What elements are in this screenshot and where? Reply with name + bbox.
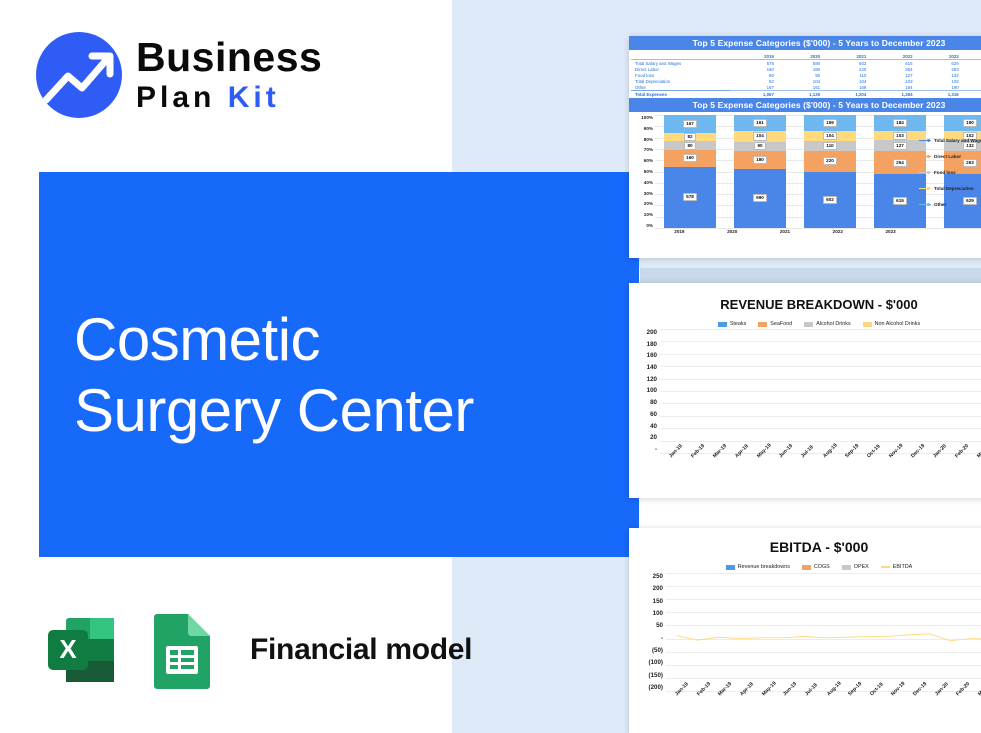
y-tick: 40% bbox=[631, 180, 653, 185]
legend-item: Steaks bbox=[718, 321, 746, 327]
y-tick: 70% bbox=[631, 147, 653, 152]
legend-label: Total Salary and Wages bbox=[934, 138, 981, 143]
bar-segment: 160 bbox=[664, 150, 717, 167]
y-tick: 80 bbox=[631, 399, 657, 406]
data-label: 602 bbox=[823, 196, 837, 204]
legend-label: Non Alcohol Drinks bbox=[875, 321, 921, 327]
data-label: 180 bbox=[753, 156, 767, 164]
bar-segment: 169 bbox=[804, 115, 857, 131]
file-format-label: Financial model bbox=[250, 633, 472, 667]
bar-segment: 190 bbox=[944, 115, 981, 131]
y-tick: - bbox=[631, 446, 657, 453]
brand-kit-text: Kit bbox=[228, 81, 280, 114]
data-label: 220 bbox=[823, 157, 837, 165]
page-title: Cosmetic Surgery Center bbox=[74, 305, 634, 447]
legend-item: Food loss bbox=[919, 170, 981, 175]
legend-item: Revenue breakdowns bbox=[726, 564, 790, 570]
bar-segment: 167 bbox=[664, 115, 717, 133]
legend-label: Direct Labor bbox=[934, 154, 961, 159]
data-label: 104 bbox=[753, 132, 767, 140]
stacked-bar-column: 16110490180590 bbox=[734, 115, 787, 228]
y-tick: - bbox=[631, 635, 663, 642]
expense-chart-y-axis: 100%90%80%70%60%50%40%30%20%10%0% bbox=[631, 115, 655, 238]
y-tick: 200 bbox=[631, 329, 657, 336]
y-tick: 120 bbox=[631, 376, 657, 383]
ebitda-line bbox=[666, 573, 981, 691]
bar-segment: 180 bbox=[734, 151, 787, 169]
legend-swatch bbox=[842, 565, 851, 570]
data-label: 103 bbox=[893, 132, 907, 140]
ebitda-chart-bars bbox=[666, 573, 981, 691]
revenue-chart-x-axis: Jan-19Feb-19Mar-19Apr-19May-19Jun-19Jul-… bbox=[657, 453, 981, 487]
y-tick: 90% bbox=[631, 126, 653, 131]
expense-chart-legend: Total Salary and WagesDirect LaborFood l… bbox=[919, 138, 981, 218]
bar-segment: 90 bbox=[734, 142, 787, 151]
expense-table-body: Total Salary and Wages578590602615629 Di… bbox=[631, 60, 981, 98]
ebitda-chart-y-axis: 25020015010050-(50)(100)(150)(200) bbox=[631, 573, 666, 691]
legend-swatch bbox=[863, 322, 872, 327]
y-tick: 60 bbox=[631, 411, 657, 418]
gridline bbox=[660, 416, 981, 417]
legend-label: Revenue breakdowns bbox=[738, 564, 790, 570]
legend-swatch bbox=[758, 322, 767, 327]
data-label: 169 bbox=[823, 119, 837, 127]
legend-item: Total Salary and Wages bbox=[919, 138, 981, 143]
data-label: 90 bbox=[754, 142, 765, 150]
legend-swatch bbox=[919, 204, 931, 206]
legend-item: Non Alcohol Drinks bbox=[863, 321, 921, 327]
legend-item: Direct Labor bbox=[919, 154, 981, 159]
legend-label: Total Depreciation bbox=[934, 186, 974, 191]
bar-segment: 184 bbox=[874, 115, 927, 131]
gridline bbox=[660, 441, 981, 442]
y-tick: 160 bbox=[631, 352, 657, 359]
data-label: 82 bbox=[684, 133, 695, 141]
legend-swatch bbox=[804, 322, 813, 327]
gridline bbox=[660, 403, 981, 404]
trend-up-arrow-icon bbox=[36, 32, 122, 118]
gridline bbox=[660, 428, 981, 429]
y-tick: 10% bbox=[631, 212, 653, 217]
legend-label: Other bbox=[934, 202, 946, 207]
data-label: 615 bbox=[893, 197, 907, 205]
y-tick: 50 bbox=[631, 622, 663, 629]
legend-swatch bbox=[881, 566, 890, 568]
y-tick: (150) bbox=[631, 672, 663, 679]
legend-item: COGS bbox=[802, 564, 830, 570]
y-tick: (50) bbox=[631, 647, 663, 654]
microsoft-excel-icon: X bbox=[40, 608, 124, 692]
y-tick: 0% bbox=[631, 223, 653, 228]
bar-segment: 110 bbox=[804, 141, 857, 151]
y-tick: 20 bbox=[631, 434, 657, 441]
legend-item: SeaFood bbox=[758, 321, 792, 327]
legend-swatch bbox=[919, 140, 931, 142]
legend-label: COGS bbox=[814, 564, 830, 570]
legend-label: Alcohol Drinks bbox=[816, 321, 850, 327]
data-label: 127 bbox=[893, 142, 907, 150]
data-label: 160 bbox=[683, 154, 697, 162]
y-tick: 20% bbox=[631, 201, 653, 206]
legend-item: Other bbox=[919, 202, 981, 207]
data-label: 161 bbox=[753, 119, 767, 127]
legend-swatch bbox=[919, 172, 931, 174]
y-tick: (100) bbox=[631, 659, 663, 666]
ebitda-chart-x-axis: Jan-19Feb-19Mar-19Apr-19May-19Jun-19Jul-… bbox=[663, 691, 981, 725]
brand-plan-text: Plan bbox=[136, 81, 215, 114]
legend-label: EBITDA bbox=[893, 564, 912, 570]
legend-swatch bbox=[802, 565, 811, 570]
data-label: 167 bbox=[683, 120, 697, 128]
y-tick: 80% bbox=[631, 137, 653, 142]
data-label: 184 bbox=[893, 119, 907, 127]
file-format-row: X Financial model bbox=[40, 608, 472, 692]
revenue-chart-legend: SteaksSeaFoodAlcohol DrinksNon Alcohol D… bbox=[629, 321, 981, 327]
table-total-row: Total Expenses1,0671,1251,2041,2841,316 bbox=[631, 91, 981, 98]
expense-categories-card: Top 5 Expense Categories ($'000) - 5 Yea… bbox=[629, 36, 981, 258]
page-title-line-1: Cosmetic bbox=[74, 305, 634, 376]
data-label: 110 bbox=[823, 142, 836, 150]
legend-item: Alcohol Drinks bbox=[804, 321, 850, 327]
brand-line-2: Plan Kit bbox=[136, 83, 322, 113]
y-tick: 30% bbox=[631, 191, 653, 196]
bar-segment: 161 bbox=[734, 115, 787, 131]
y-tick: 100 bbox=[631, 387, 657, 394]
data-label: 578 bbox=[683, 193, 697, 201]
legend-swatch bbox=[919, 156, 931, 158]
bar-segment: 578 bbox=[664, 167, 717, 228]
bar-segment: 590 bbox=[734, 169, 787, 228]
page-title-line-2: Surgery Center bbox=[74, 376, 634, 447]
legend-label: Steaks bbox=[730, 321, 746, 327]
gridline bbox=[660, 379, 981, 380]
legend-label: OPEX bbox=[854, 564, 869, 570]
expense-table-title: Top 5 Expense Categories ($'000) - 5 Yea… bbox=[629, 36, 981, 50]
y-tick: 250 bbox=[631, 573, 663, 580]
data-label: 590 bbox=[753, 194, 767, 202]
y-tick: 100 bbox=[631, 610, 663, 617]
brand-logo: Business Plan Kit bbox=[36, 32, 322, 118]
ebitda-chart-plot-area: 25020015010050-(50)(100)(150)(200) bbox=[629, 573, 981, 691]
legend-label: Food loss bbox=[934, 170, 956, 175]
y-tick: 40 bbox=[631, 423, 657, 430]
legend-label: SeaFood bbox=[770, 321, 792, 327]
legend-item: OPEX bbox=[842, 564, 869, 570]
bar-segment: 220 bbox=[804, 151, 857, 172]
gridline bbox=[660, 341, 981, 342]
y-tick: 180 bbox=[631, 341, 657, 348]
y-tick: (200) bbox=[631, 684, 663, 691]
legend-swatch bbox=[718, 322, 727, 327]
slide-canvas: Business Plan Kit Cosmetic Surgery Cente… bbox=[0, 0, 981, 733]
gridline bbox=[660, 354, 981, 355]
bar-segment: 104 bbox=[804, 131, 857, 141]
data-label: 190 bbox=[963, 119, 977, 127]
gridline bbox=[660, 329, 981, 330]
stacked-bar-column: 1678280160578 bbox=[664, 115, 717, 228]
revenue-chart-plot-area: 20018016014012010080604020- bbox=[629, 329, 981, 453]
revenue-chart-y-axis: 20018016014012010080604020- bbox=[631, 329, 660, 453]
bar-segment: 80 bbox=[664, 141, 717, 149]
ebitda-chart-title: EBITDA - $'000 bbox=[629, 539, 981, 555]
legend-swatch bbox=[726, 565, 735, 570]
bar-segment: 602 bbox=[804, 172, 857, 228]
expense-chart-title: Top 5 Expense Categories ($'000) - 5 Yea… bbox=[629, 98, 981, 112]
bar-segment: 104 bbox=[734, 131, 787, 141]
data-label: 80 bbox=[684, 142, 695, 150]
brand-wordmark: Business Plan Kit bbox=[136, 37, 322, 113]
data-label: 104 bbox=[823, 132, 837, 140]
y-tick: 60% bbox=[631, 158, 653, 163]
legend-swatch bbox=[919, 188, 931, 190]
data-label: 254 bbox=[893, 159, 907, 167]
y-tick: 100% bbox=[631, 115, 653, 120]
revenue-chart-bars bbox=[660, 329, 981, 453]
svg-text:X: X bbox=[59, 634, 77, 664]
legend-item: EBITDA bbox=[881, 564, 912, 570]
ebitda-chart-legend: Revenue breakdownsCOGSOPEXEBITDA bbox=[629, 564, 981, 570]
gridline bbox=[660, 366, 981, 367]
revenue-breakdown-card: REVENUE BREAKDOWN - $'000 SteaksSeaFoodA… bbox=[629, 283, 981, 498]
bar-segment: 82 bbox=[664, 133, 717, 142]
y-tick: 50% bbox=[631, 169, 653, 174]
ebitda-card: EBITDA - $'000 Revenue breakdownsCOGSOPE… bbox=[629, 528, 981, 733]
expense-table: 2019 2020 2021 2022 2023 Total Salary an… bbox=[631, 53, 981, 97]
expense-table-wrap: 2019 2020 2021 2022 2023 Total Salary an… bbox=[629, 50, 981, 98]
revenue-chart-title: REVENUE BREAKDOWN - $'000 bbox=[629, 297, 981, 312]
legend-item: Total Depreciation bbox=[919, 186, 981, 191]
gridline bbox=[660, 391, 981, 392]
google-sheets-icon bbox=[146, 608, 218, 692]
y-tick: 200 bbox=[631, 585, 663, 592]
stacked-bar-column: 169104110220602 bbox=[804, 115, 857, 228]
brand-line-1: Business bbox=[136, 37, 322, 78]
y-tick: 150 bbox=[631, 598, 663, 605]
y-tick: 140 bbox=[631, 364, 657, 371]
